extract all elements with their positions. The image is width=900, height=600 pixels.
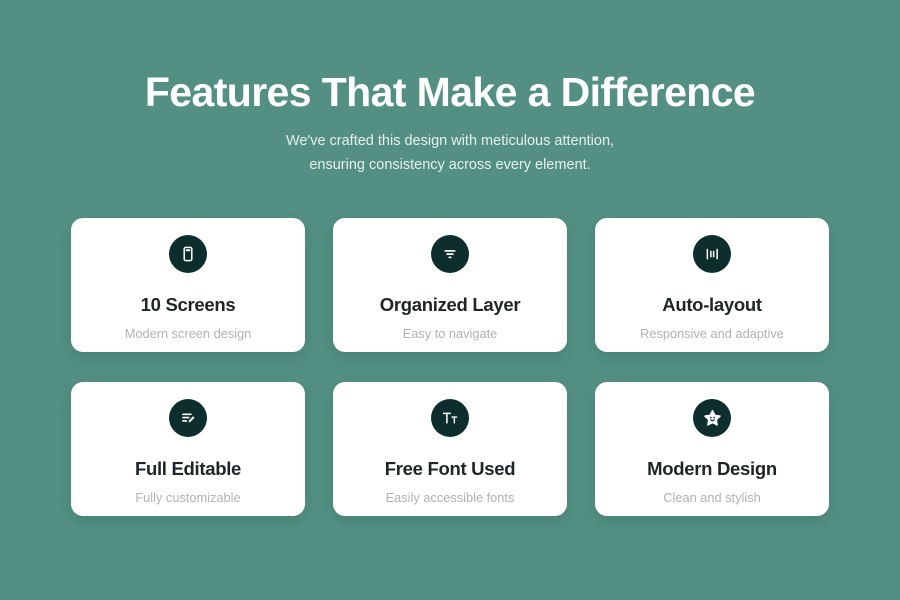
layers-filter-icon [431, 235, 469, 273]
feature-card-title: Modern Design [647, 458, 777, 480]
feature-card-description: Modern screen design [125, 326, 252, 343]
feature-card-title: Auto-layout [662, 294, 761, 316]
feature-card-modern-design[interactable]: Modern Design Clean and stylish [595, 382, 829, 516]
page-subtitle-line-2: ensuring consistency across every elemen… [0, 154, 900, 177]
feature-card-description: Fully customizable [135, 490, 240, 507]
feature-card-description: Responsive and adaptive [640, 326, 784, 343]
feature-card-description: Easily accessible fonts [386, 490, 515, 507]
typography-tt-icon [431, 399, 469, 437]
page-subtitle: We've crafted this design with meticulou… [0, 130, 900, 177]
page-subtitle-line-1: We've crafted this design with meticulou… [0, 130, 900, 153]
feature-card-title: Full Editable [135, 458, 241, 480]
feature-card-full-editable[interactable]: Full Editable Fully customizable [71, 382, 305, 516]
feature-card-description: Clean and stylish [663, 490, 760, 507]
feature-card-organized-layer[interactable]: Organized Layer Easy to navigate [333, 218, 567, 352]
mobile-screen-icon [169, 235, 207, 273]
feature-card-title: Free Font Used [385, 458, 515, 480]
feature-card-title: Organized Layer [380, 294, 520, 316]
feature-card-10-screens[interactable]: 10 Screens Modern screen design [71, 218, 305, 352]
feature-cards-grid: 10 Screens Modern screen design Organize… [71, 218, 829, 516]
feature-card-description: Easy to navigate [403, 326, 498, 343]
feature-card-free-font-used[interactable]: Free Font Used Easily accessible fonts [333, 382, 567, 516]
section-header: Features That Make a Difference We've cr… [0, 0, 900, 177]
page-title: Features That Make a Difference [0, 68, 900, 116]
feature-card-auto-layout[interactable]: Auto-layout Responsive and adaptive [595, 218, 829, 352]
feature-card-title: 10 Screens [141, 294, 236, 316]
edit-pencil-lines-icon [169, 399, 207, 437]
distribute-vertical-bars-icon [693, 235, 731, 273]
star-smile-icon [693, 399, 731, 437]
features-section: Features That Make a Difference We've cr… [0, 0, 900, 600]
